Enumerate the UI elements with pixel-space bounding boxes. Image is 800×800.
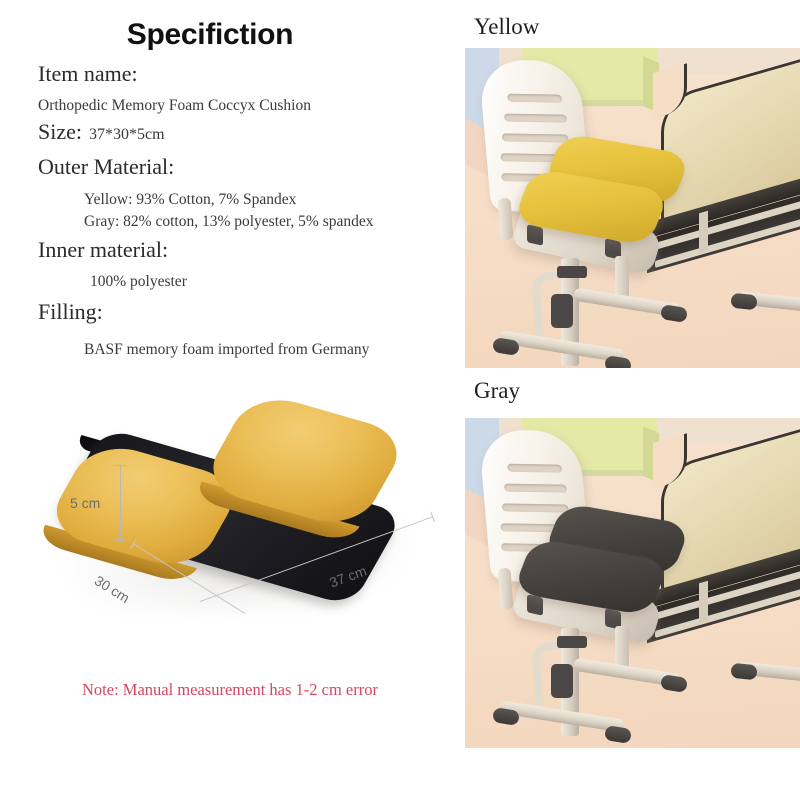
product-photo-gray xyxy=(465,418,800,748)
item-name-value: Orthopedic Memory Foam Coccyx Cushion xyxy=(38,96,458,116)
spec-outer-material-gray: Gray: 82% cotton, 13% polyester, 5% span… xyxy=(38,212,458,232)
inner-material-label: Inner material: xyxy=(38,238,458,261)
scene-yellow xyxy=(465,48,800,368)
variant-photo-column: Yellow xyxy=(460,0,800,800)
item-name-label: Item name: xyxy=(38,62,458,85)
desk-foot-cap xyxy=(730,293,757,311)
scene-gray xyxy=(465,418,800,748)
desk-rail-post xyxy=(699,581,708,624)
backrest-slot xyxy=(502,133,569,142)
specification-page: Specifiction Item name: Orthopedic Memor… xyxy=(0,0,800,800)
spec-item-name: Item name: xyxy=(38,62,458,85)
backrest-slot xyxy=(502,503,569,512)
spec-inner-material: Inner material: xyxy=(38,238,458,261)
backrest-slot xyxy=(504,114,567,123)
chair-height-clamp-lower xyxy=(551,294,573,328)
spec-filling-value: BASF memory foam imported from Germany xyxy=(38,340,458,360)
chair-height-clamp-upper xyxy=(557,636,587,648)
measurement-note: Note: Manual measurement has 1-2 cm erro… xyxy=(0,680,460,700)
spec-inner-material-value: 100% polyester xyxy=(38,272,458,292)
outer-material-label: Outer Material: xyxy=(38,155,458,178)
desk-rail-post xyxy=(699,211,708,254)
filling-label: Filling: xyxy=(38,300,458,323)
seat-clip xyxy=(527,594,543,615)
page-title: Specifiction xyxy=(0,18,420,52)
seat-clip xyxy=(527,224,543,245)
variant-label-gray: Gray xyxy=(474,378,520,404)
backrest-slot xyxy=(507,94,562,103)
chair-height-clamp-upper xyxy=(557,266,587,278)
backrest-slot xyxy=(507,464,562,473)
height-dimension-label: 5 cm xyxy=(70,495,100,511)
size-value: 37*30*5cm xyxy=(82,126,165,143)
spec-filling: Filling: xyxy=(38,300,458,323)
size-label: Size: xyxy=(38,119,82,144)
diagram-stage: 5 cm 30 cm 37 cm xyxy=(58,395,458,625)
spec-outer-material-yellow: Yellow: 93% Cotton, 7% Spandex xyxy=(38,190,458,210)
spec-outer-material: Outer Material: xyxy=(38,155,458,178)
specification-column: Specifiction Item name: Orthopedic Memor… xyxy=(0,0,460,800)
height-dimension-line xyxy=(120,465,121,541)
dimension-diagram: 5 cm 30 cm 37 cm xyxy=(0,385,460,650)
outer-material-gray-value: Gray: 82% cotton, 13% polyester, 5% span… xyxy=(38,212,458,232)
product-photo-yellow xyxy=(465,48,800,368)
outer-material-yellow-value: Yellow: 93% Cotton, 7% Spandex xyxy=(38,190,458,210)
backrest-slot xyxy=(504,484,567,493)
desk-foot-cap xyxy=(730,663,757,681)
spec-item-name-value: Orthopedic Memory Foam Coccyx Cushion xyxy=(38,96,458,116)
variant-label-yellow: Yellow xyxy=(474,14,539,40)
filling-value: BASF memory foam imported from Germany xyxy=(38,340,458,360)
spec-size: Size:37*30*5cm xyxy=(38,120,458,144)
chair-height-clamp-lower xyxy=(551,664,573,698)
inner-material-value: 100% polyester xyxy=(38,272,458,292)
